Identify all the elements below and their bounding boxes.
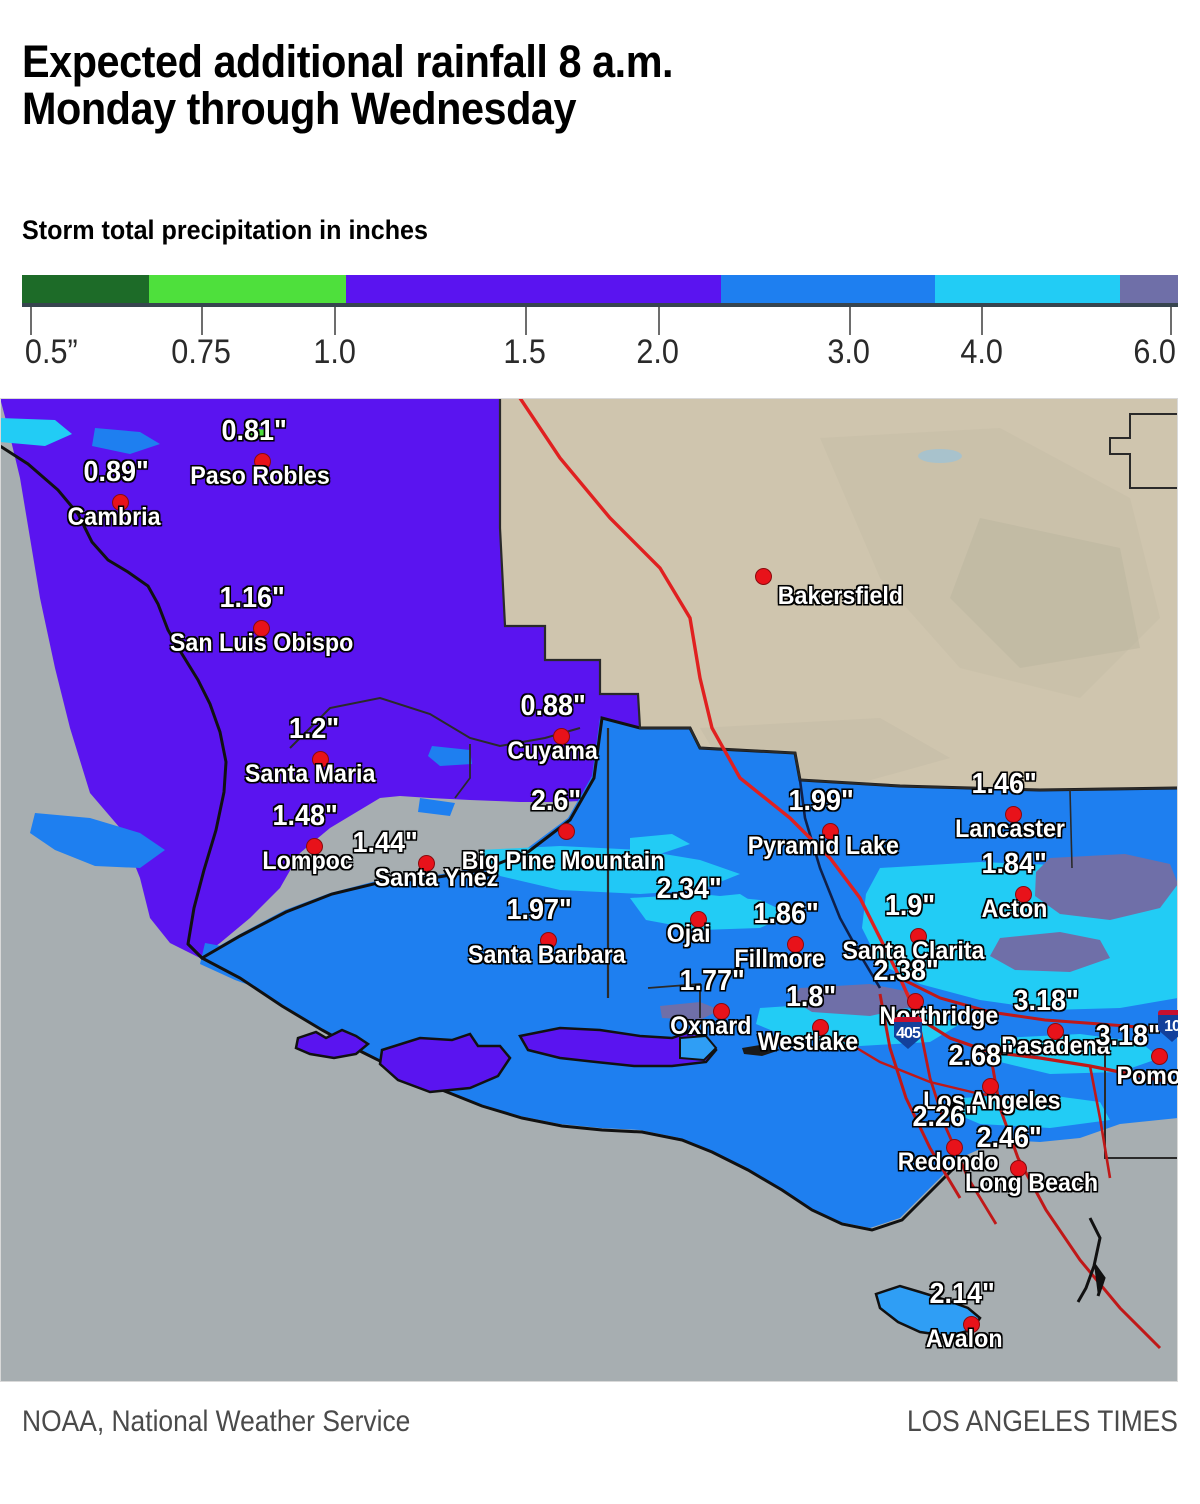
legend-tick-2 bbox=[334, 307, 336, 335]
legend-label-2: 1.0 bbox=[313, 333, 356, 372]
publisher-credit: LOS ANGELES TIMES bbox=[907, 1405, 1178, 1439]
legend-segment-2 bbox=[346, 275, 722, 303]
legend-label-3: 1.5 bbox=[504, 333, 547, 372]
legend-tick-4 bbox=[658, 307, 660, 335]
legend-tick-labels: 0.5”0.751.01.52.03.04.06.0 bbox=[22, 333, 1178, 379]
shield-number: 10 bbox=[1157, 1018, 1178, 1036]
legend-label-0: 0.5” bbox=[25, 333, 78, 372]
legend-tick-6 bbox=[981, 307, 983, 335]
legend-ticks bbox=[22, 307, 1178, 335]
legend-tick-5 bbox=[849, 307, 851, 335]
legend-segment-3 bbox=[721, 275, 935, 303]
legend-segment-0 bbox=[22, 275, 149, 303]
map-geometry bbox=[0, 398, 1178, 1382]
interstate-shield-icon: 10 bbox=[1157, 1010, 1178, 1044]
precipitation-legend: 0.5”0.751.01.52.03.04.06.0 bbox=[22, 275, 1178, 380]
legend-segment-5 bbox=[1120, 275, 1178, 303]
legend-label-6: 4.0 bbox=[960, 333, 1003, 372]
shield-number: 405 bbox=[893, 1025, 923, 1043]
legend-tick-3 bbox=[525, 307, 527, 335]
legend-segment-4 bbox=[935, 275, 1120, 303]
legend-label-4: 2.0 bbox=[637, 333, 680, 372]
page-title: Expected additional rainfall 8 a.m. Mond… bbox=[22, 38, 942, 132]
legend-label-5: 3.0 bbox=[827, 333, 870, 372]
legend-tick-1 bbox=[201, 307, 203, 335]
weather-map-graphic: Expected additional rainfall 8 a.m. Mond… bbox=[0, 0, 1200, 1504]
legend-label-1: 0.75 bbox=[171, 333, 231, 372]
legend-color-bar bbox=[22, 275, 1178, 303]
legend-tick-0 bbox=[30, 307, 32, 335]
source-credit: NOAA, National Weather Service bbox=[22, 1405, 410, 1439]
legend-subtitle: Storm total precipitation in inches bbox=[22, 215, 428, 246]
precipitation-map[interactable]: 0.81"Paso Robles0.89"Cambria1.16"San Lui… bbox=[0, 398, 1178, 1382]
interstate-shield-icon: 405 bbox=[893, 1017, 923, 1051]
legend-segment-1 bbox=[149, 275, 346, 303]
legend-tick-7 bbox=[1170, 307, 1172, 335]
legend-label-7: 6.0 bbox=[1133, 333, 1176, 372]
